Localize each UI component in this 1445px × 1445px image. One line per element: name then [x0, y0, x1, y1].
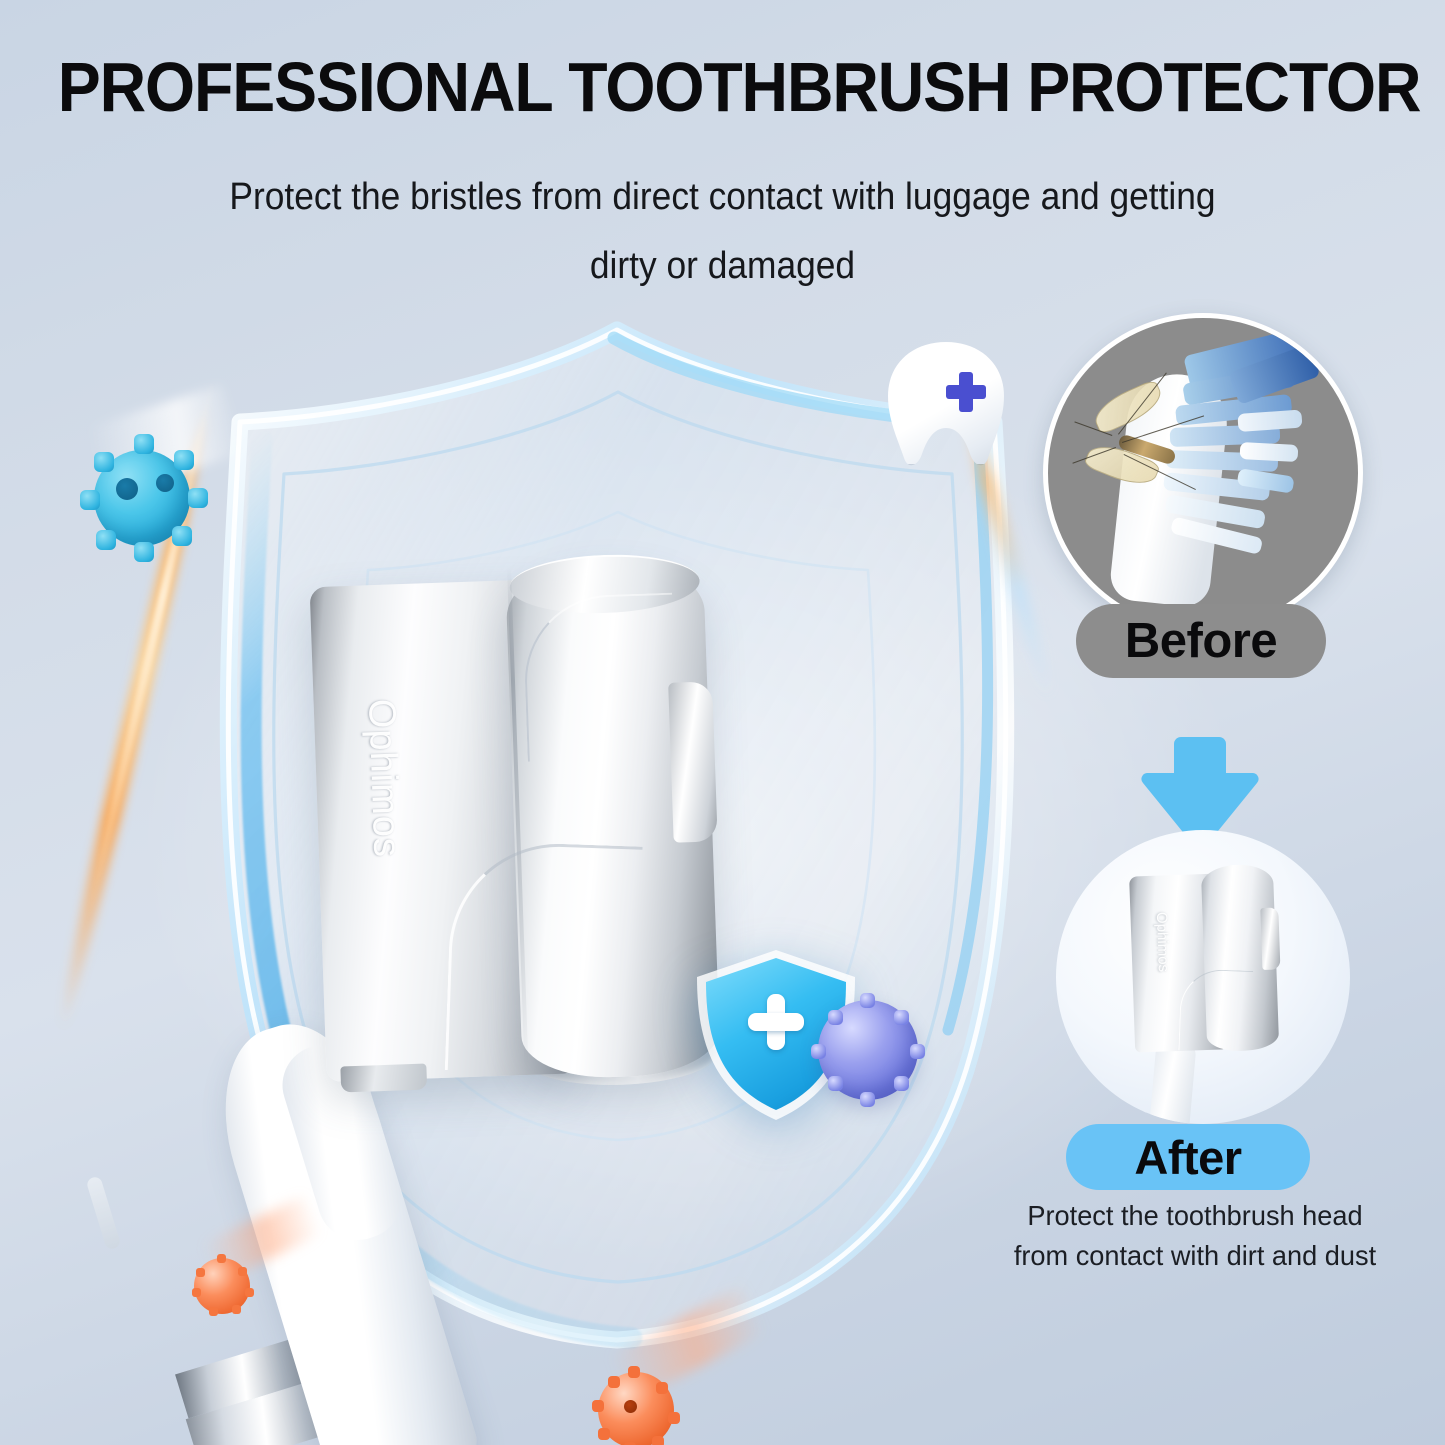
brand-label: Ophimos [358, 663, 409, 894]
shield-cross-glyph [748, 994, 804, 1050]
mosquito-icon [1072, 376, 1190, 526]
after-label-pill: After [1066, 1124, 1310, 1190]
virus-blue-icon [78, 434, 210, 564]
before-label-pill: Before [1076, 604, 1326, 678]
after-image-circle: Ophimos [1056, 830, 1350, 1124]
protector-cap-product: Ophimos [309, 555, 737, 1094]
toothbrush-slot [86, 1175, 122, 1250]
virus-orange-small-icon [194, 1258, 250, 1314]
after-caption-line-2: from contact with dirt and dust [967, 1236, 1423, 1276]
before-image-circle [1043, 313, 1363, 633]
virus-purple-icon [818, 1000, 918, 1100]
bristle [1237, 410, 1302, 432]
after-caption: Protect the toothbrush head from contact… [967, 1196, 1423, 1276]
tooth-icon [884, 340, 1008, 464]
virus-orange-large-icon [598, 1372, 674, 1445]
after-protector-cap: Ophimos [1129, 863, 1283, 1052]
tooth-cross-icon [946, 372, 986, 412]
bristle [1240, 442, 1299, 462]
cap-bottom-tab [340, 1064, 427, 1093]
after-caption-line-1: Protect the toothbrush head [967, 1196, 1423, 1236]
after-cap-clip [1260, 907, 1280, 970]
product-infographic: PROFESSIONAL TOOTHBRUSH PROTECTOR Protec… [0, 0, 1445, 1445]
